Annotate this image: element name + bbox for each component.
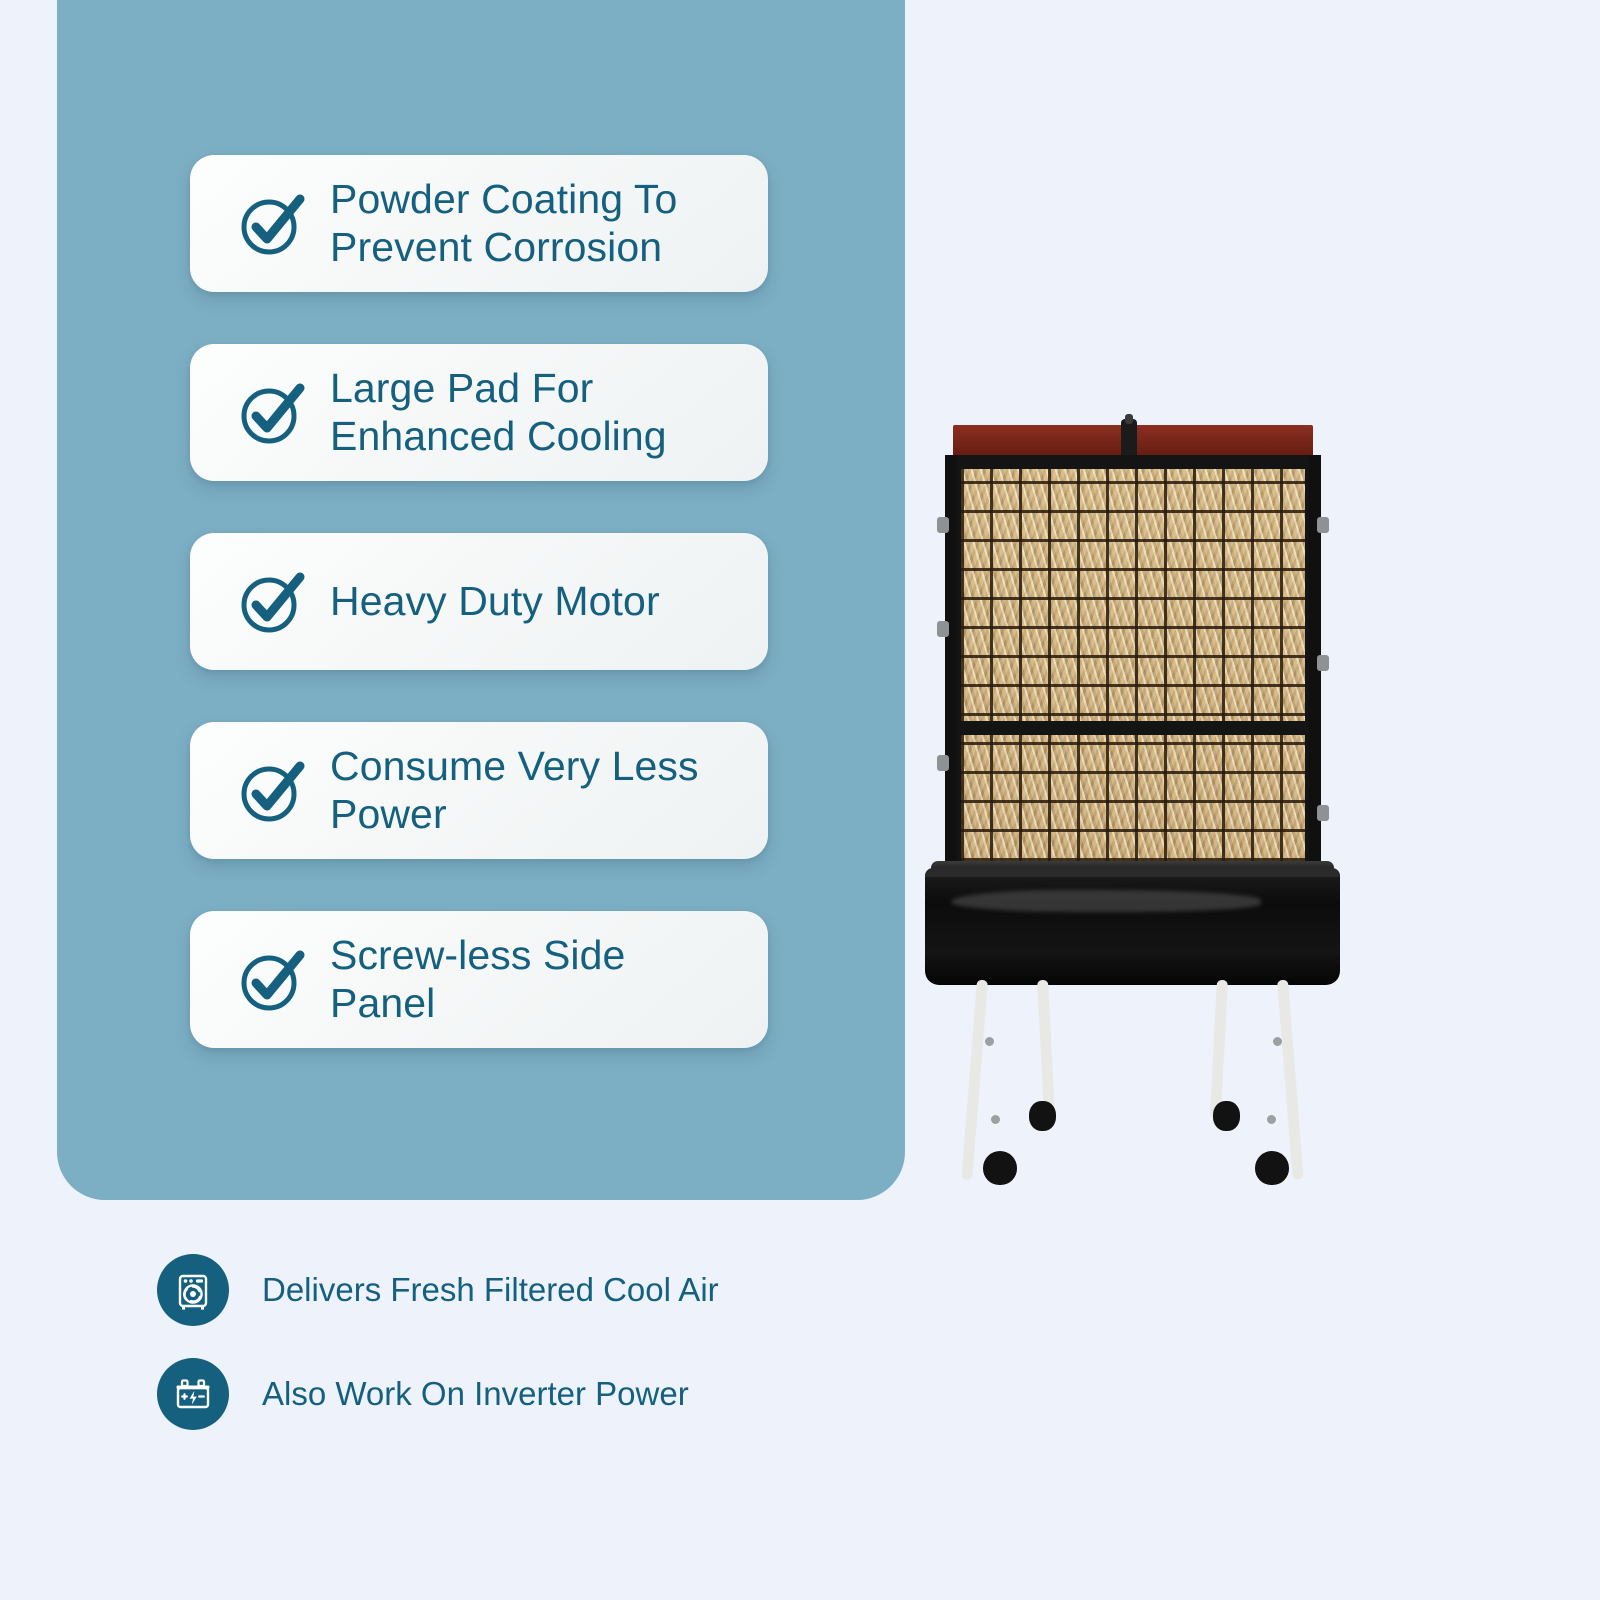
product-clip bbox=[1317, 805, 1329, 821]
air-cooler-icon bbox=[157, 1254, 229, 1326]
feature-card-list: Powder Coating To Prevent Corrosion Larg… bbox=[190, 155, 768, 1100]
product-clip bbox=[937, 517, 949, 533]
product-stand-leg bbox=[1037, 980, 1055, 1118]
infographic-root: Powder Coating To Prevent Corrosion Larg… bbox=[0, 0, 1600, 1600]
bottom-highlight-list: Delivers Fresh Filtered Cool Air Also Wo… bbox=[157, 1250, 1057, 1458]
product-caster-wheel bbox=[983, 1151, 1017, 1185]
highlight-row[interactable]: Delivers Fresh Filtered Cool Air bbox=[157, 1250, 1057, 1330]
check-circle-icon bbox=[236, 567, 306, 637]
product-bolt bbox=[1267, 1115, 1276, 1124]
product-water-tank bbox=[925, 868, 1340, 985]
check-circle-icon bbox=[236, 378, 306, 448]
feature-card[interactable]: Large Pad For Enhanced Cooling bbox=[190, 344, 768, 481]
product-clip bbox=[937, 755, 949, 771]
product-bolt bbox=[985, 1037, 994, 1046]
feature-card[interactable]: Heavy Duty Motor bbox=[190, 533, 768, 670]
check-circle-icon bbox=[236, 189, 306, 259]
product-bolt bbox=[1273, 1037, 1282, 1046]
product-bolt bbox=[991, 1115, 1000, 1124]
product-stand-leg bbox=[1277, 980, 1304, 1180]
check-circle-icon bbox=[236, 756, 306, 826]
feature-label: Powder Coating To Prevent Corrosion bbox=[330, 176, 742, 271]
product-pad-divider bbox=[945, 721, 1321, 735]
product-stand-leg bbox=[961, 980, 988, 1180]
feature-card[interactable]: Consume Very Less Power bbox=[190, 722, 768, 859]
feature-label: Consume Very Less Power bbox=[330, 743, 742, 838]
product-pad-frame bbox=[945, 455, 1321, 875]
feature-label: Screw-less Side Panel bbox=[330, 932, 742, 1027]
product-cooling-pad bbox=[961, 469, 1305, 861]
feature-card[interactable]: Screw-less Side Panel bbox=[190, 911, 768, 1048]
product-clip bbox=[1317, 517, 1329, 533]
feature-label: Heavy Duty Motor bbox=[330, 578, 660, 626]
feature-label: Large Pad For Enhanced Cooling bbox=[330, 365, 742, 460]
product-caster-wheel bbox=[1029, 1101, 1056, 1131]
battery-icon bbox=[157, 1358, 229, 1430]
product-caster-wheel bbox=[1213, 1101, 1240, 1131]
product-image bbox=[925, 425, 1340, 1185]
check-circle-icon bbox=[236, 945, 306, 1015]
product-caster-wheel bbox=[1255, 1151, 1289, 1185]
product-stand-leg bbox=[1210, 980, 1228, 1118]
highlight-label: Delivers Fresh Filtered Cool Air bbox=[262, 1272, 719, 1308]
feature-card[interactable]: Powder Coating To Prevent Corrosion bbox=[190, 155, 768, 292]
product-clip bbox=[937, 621, 949, 637]
highlight-row[interactable]: Also Work On Inverter Power bbox=[157, 1354, 1057, 1434]
product-clip bbox=[1317, 655, 1329, 671]
highlight-label: Also Work On Inverter Power bbox=[262, 1376, 689, 1412]
